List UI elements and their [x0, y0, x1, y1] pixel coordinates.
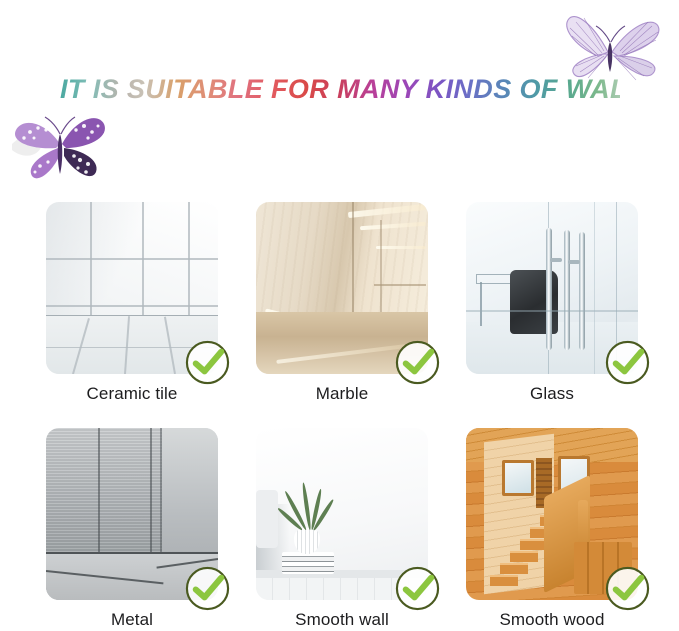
check-badge-smooth-wood — [604, 565, 651, 612]
surface-card-smooth-wood[interactable]: Smooth wood — [466, 428, 638, 631]
surface-label-metal: Metal — [46, 609, 218, 631]
surface-row-1: Ceramic tile — [46, 202, 638, 405]
surface-card-smooth-wall[interactable]: Smooth wall — [256, 428, 428, 631]
surface-image-marble — [256, 202, 428, 374]
surface-card-ceramic-tile[interactable]: Ceramic tile — [46, 202, 218, 405]
surface-label-marble: Marble — [256, 383, 428, 405]
surface-image-smooth-wall — [256, 428, 428, 600]
surface-label-glass: Glass — [466, 383, 638, 405]
surface-grid: Ceramic tile — [46, 202, 638, 631]
check-badge-glass — [604, 339, 651, 386]
butterfly-left-icon — [2, 104, 122, 184]
surface-image-metal — [46, 428, 218, 600]
surface-image-smooth-wood — [466, 428, 638, 600]
surface-card-marble[interactable]: Marble — [256, 202, 428, 405]
check-badge-metal — [184, 565, 231, 612]
surface-card-metal[interactable]: Metal — [46, 428, 218, 631]
surface-row-2: Metal — [46, 428, 638, 631]
check-badge-smooth-wall — [394, 565, 441, 612]
check-badge-ceramic-tile — [184, 339, 231, 386]
check-badge-marble — [394, 339, 441, 386]
page-title: IT IS SUITABLE FOR MANY KINDS OF WALLS — [60, 72, 620, 106]
surface-image-glass — [466, 202, 638, 374]
surface-label-ceramic-tile: Ceramic tile — [46, 383, 218, 405]
infographic-canvas: IT IS SUITABLE FOR MANY KINDS OF WALLS — [0, 0, 679, 615]
surface-image-ceramic-tile — [46, 202, 218, 374]
surface-card-glass[interactable]: Glass — [466, 202, 638, 405]
surface-label-smooth-wall: Smooth wall — [256, 609, 428, 631]
surface-label-smooth-wood: Smooth wood — [466, 609, 638, 631]
